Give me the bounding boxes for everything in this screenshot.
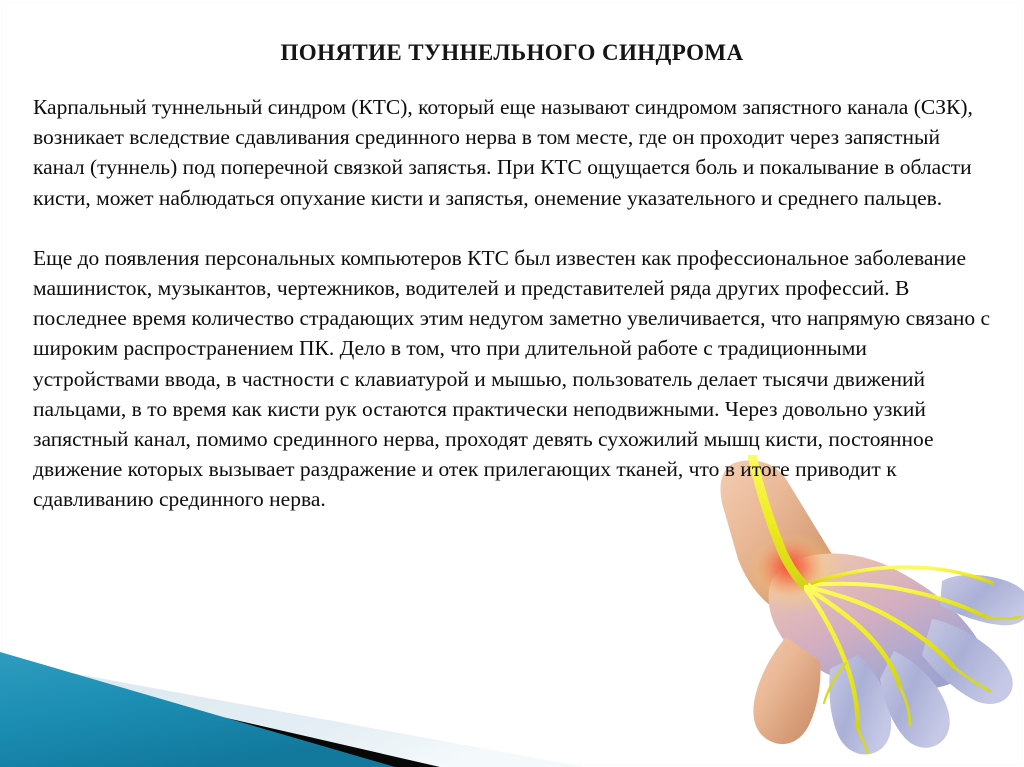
body-paragraph: Карпальный туннельный синдром (КТС), кот… [33, 92, 995, 213]
page-title: ПОНЯТИЕ ТУННЕЛЬНОГО СИНДРОМА [0, 40, 1024, 66]
slide-body: Карпальный туннельный синдром (КТС), кот… [33, 92, 995, 515]
slide-canvas: ПОНЯТИЕ ТУННЕЛЬНОГО СИНДРОМА Карпальный … [0, 0, 1024, 767]
corner-wedge-decoration [0, 600, 640, 767]
body-paragraph: Еще до появления персональных компьютеро… [33, 243, 995, 515]
